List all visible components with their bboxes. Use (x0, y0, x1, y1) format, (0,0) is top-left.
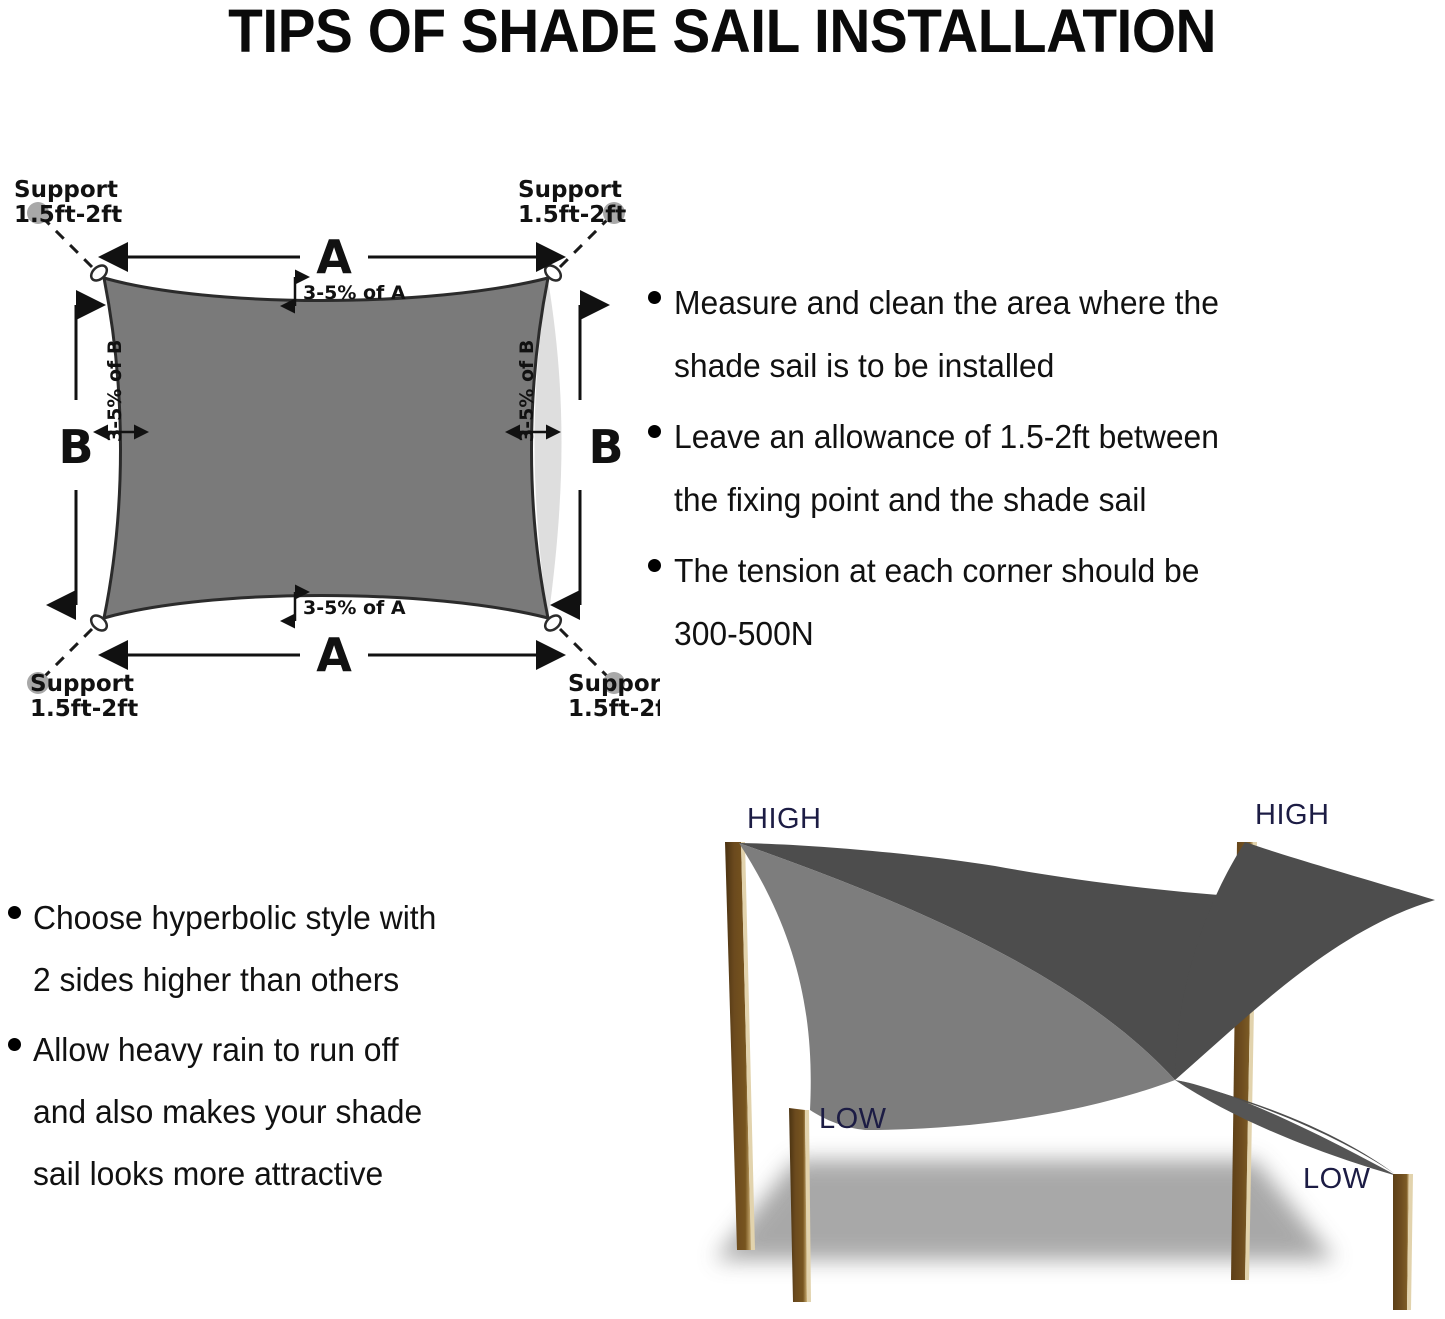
support-label-bottom-left: Support 1.5ft-2ft (30, 671, 138, 722)
rectangular-sail-diagram: Support 1.5ft-2ft Support 1.5ft-2ft Supp… (0, 160, 660, 730)
curve-label-left: 3-5% of B (104, 340, 126, 442)
title-bar: TIPS OF SHADE SAIL INSTALLATION (0, 0, 1445, 62)
bullet-dot-icon (648, 559, 661, 572)
list-item: Leave an allowance of 1.5-2ft between th… (648, 406, 1445, 532)
support-label-bottom-right-line2: 1.5ft-2ft (568, 696, 660, 722)
bullet-dot-icon (8, 1038, 21, 1051)
support-label-top-left-line1: Support (14, 177, 118, 203)
support-label-bottom-left-line2: 1.5ft-2ft (30, 696, 138, 722)
dimension-label-a-top: A (316, 230, 352, 284)
support-label-bottom-right-line1: Support (568, 671, 660, 697)
label-high-right: HIGH (1255, 799, 1330, 831)
sail-panel-far-right (1175, 842, 1435, 1080)
dimension-label-b-right: B (588, 420, 623, 474)
support-label-top-left: Support 1.5ft-2ft (14, 177, 122, 228)
benefit-text: Choose hyperbolic style with 2 sides hig… (33, 888, 436, 1012)
label-low-left: LOW (819, 1103, 887, 1135)
curve-label-top: 3-5% of A (303, 282, 406, 304)
curve-label-right: 3-5% of B (516, 340, 538, 442)
label-low-right: LOW (1303, 1163, 1371, 1195)
bullet-dot-icon (648, 291, 661, 304)
tip-text: The tension at each corner should be 300… (674, 540, 1199, 666)
dimension-label-a-bottom: A (316, 628, 352, 682)
sail-body (104, 278, 548, 618)
installation-tips-list: Measure and clean the area where the sha… (648, 272, 1445, 674)
support-label-top-left-line2: 1.5ft-2ft (14, 202, 122, 228)
support-label-bottom-right: Support 1.5ft-2ft (568, 671, 660, 722)
label-high-left: HIGH (747, 803, 822, 835)
post-front-left-low (789, 1108, 811, 1302)
list-item: The tension at each corner should be 300… (648, 540, 1445, 666)
dimension-label-b-left: B (58, 420, 93, 474)
post-back-left (725, 842, 755, 1250)
support-label-top-right-line2: 1.5ft-2ft (518, 202, 626, 228)
support-label-top-right: Support 1.5ft-2ft (518, 177, 626, 228)
list-item: Choose hyperbolic style with 2 sides hig… (8, 888, 628, 1012)
list-item: Measure and clean the area where the sha… (648, 272, 1445, 398)
hyperbolic-benefits-list: Choose hyperbolic style with 2 sides hig… (8, 888, 628, 1214)
bullet-dot-icon (8, 906, 21, 919)
curve-label-bottom: 3-5% of A (303, 597, 406, 619)
tip-text: Leave an allowance of 1.5-2ft between th… (674, 406, 1219, 532)
support-label-bottom-left-line1: Support (30, 671, 134, 697)
bullet-dot-icon (648, 425, 661, 438)
benefit-text: Allow heavy rain to run off and also mak… (33, 1020, 422, 1206)
tip-text: Measure and clean the area where the sha… (674, 272, 1219, 398)
list-item: Allow heavy rain to run off and also mak… (8, 1020, 628, 1206)
page-title: TIPS OF SHADE SAIL INSTALLATION (229, 1, 1217, 62)
support-label-top-right-line1: Support (518, 177, 622, 203)
hyperbolic-sail-illustration: HIGH HIGH LOW LOW (655, 780, 1445, 1319)
post-front-right-low (1393, 1174, 1413, 1310)
